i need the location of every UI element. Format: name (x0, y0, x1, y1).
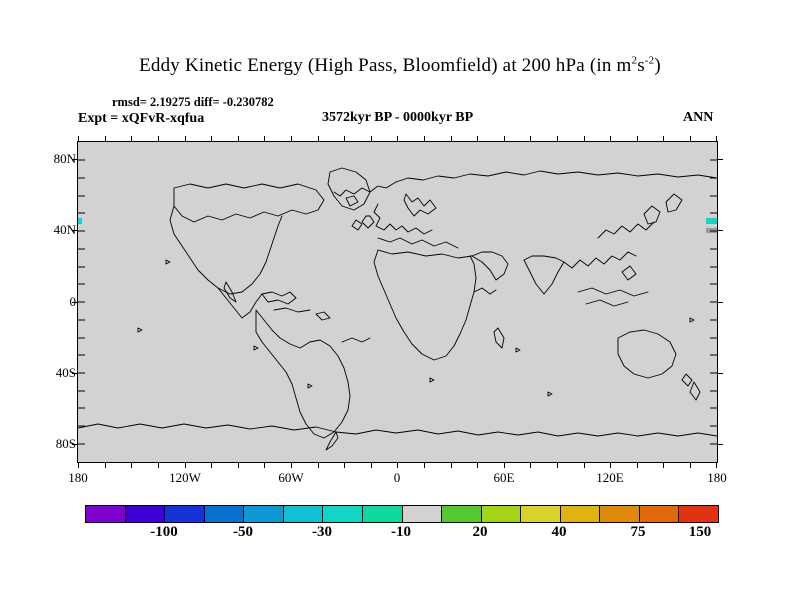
lon-tick-150e-top (663, 136, 664, 142)
lon-tick-105e (584, 462, 585, 468)
lon-tick-15w (371, 462, 372, 468)
colorbar-label-40: 40 (552, 524, 567, 541)
lon-tick-105w-top (211, 136, 212, 142)
colorbar-cell-11 (521, 506, 561, 522)
lon-tick-150e (663, 462, 664, 468)
lon-tick-135e-top (637, 136, 638, 142)
colorbar-cell-2 (165, 506, 205, 522)
chart-title-end: ) (654, 55, 661, 76)
chart-title-superscript-2: -2 (645, 55, 655, 67)
lon-tick-180e-top (716, 136, 717, 142)
lat-label-0: 0 (70, 294, 77, 310)
lon-tick-45e-top (477, 136, 478, 142)
lon-tick-75e (530, 462, 531, 468)
colorbar-cell-10 (482, 506, 522, 522)
chart-title: Eddy Kinetic Energy (High Pass, Bloomfie… (0, 55, 800, 77)
experiment-label: Expt = xQFvR-xqfua (78, 111, 204, 127)
colorbar[interactable] (85, 505, 719, 523)
colorbar-cell-14 (640, 506, 680, 522)
colorbar-cell-4 (244, 506, 284, 522)
lon-tick-0 (397, 462, 398, 468)
colorbar-label-150: 150 (689, 524, 712, 541)
lon-tick-0-top (397, 136, 398, 142)
period-label: 3572kyr BP - 0000kyr BP (322, 110, 473, 126)
lon-tick-60w (291, 462, 292, 468)
colorbar-label-75: 75 (631, 524, 646, 541)
season-label: ANN (683, 110, 713, 126)
lat-tick-80s-right (717, 444, 723, 445)
lon-tick-75w-top (264, 136, 265, 142)
lat-label-40n: 40N (54, 222, 76, 238)
lon-tick-135w-top (158, 136, 159, 142)
colorbar-cell-12 (561, 506, 601, 522)
colorbar-cell-0 (86, 506, 126, 522)
lon-tick-105e-top (584, 136, 585, 142)
lon-tick-165e-top (690, 136, 691, 142)
lon-tick-165w (105, 462, 106, 468)
lon-tick-120e (610, 462, 611, 468)
lon-label-120e: 120E (596, 470, 623, 486)
lon-tick-120w (185, 462, 186, 468)
lon-tick-165e (690, 462, 691, 468)
colorbar-label-neg100: -100 (150, 524, 178, 541)
lon-tick-30e-top (451, 136, 452, 142)
lat-label-80n: 80N (54, 151, 76, 167)
lat-tick-0-right (717, 302, 723, 303)
chart-title-mid: s (637, 55, 645, 76)
colorbar-cell-3 (205, 506, 245, 522)
lon-tick-165w-top (105, 136, 106, 142)
lat-tick-40n-right (717, 230, 723, 231)
lon-tick-90e-top (557, 136, 558, 142)
lon-tick-90w-top (238, 136, 239, 142)
lon-tick-60e-top (504, 136, 505, 142)
lat-tick-40s-right (717, 373, 723, 374)
lon-tick-135e (637, 462, 638, 468)
colorbar-cell-6 (323, 506, 363, 522)
lon-tick-15w-top (371, 136, 372, 142)
colorbar-cell-5 (284, 506, 324, 522)
lon-tick-120e-top (610, 136, 611, 142)
lon-tick-150w (131, 462, 132, 468)
lon-tick-15e (424, 462, 425, 468)
anomaly-cell-east (706, 218, 717, 224)
lon-tick-180w (78, 462, 79, 468)
lon-tick-120w-top (185, 136, 186, 142)
colorbar-label-neg50: -50 (233, 524, 253, 541)
colorbar-label-neg30: -30 (312, 524, 332, 541)
lon-tick-30w (344, 462, 345, 468)
statistics-line: rmsd= 2.19275 diff= -0.230782 (112, 95, 274, 110)
lon-tick-90e (557, 462, 558, 468)
lon-tick-30w-top (344, 136, 345, 142)
lon-tick-45w (318, 462, 319, 468)
chart-title-main: Eddy Kinetic Energy (High Pass, Bloomfie… (139, 55, 631, 76)
colorbar-cell-8 (403, 506, 443, 522)
lon-tick-150w-top (131, 136, 132, 142)
map-plot-area (77, 141, 718, 463)
lon-label-120w: 120W (169, 470, 201, 486)
figure-canvas: Eddy Kinetic Energy (High Pass, Bloomfie… (0, 0, 800, 600)
lon-label-60w: 60W (278, 470, 303, 486)
lat-label-40s: 40S (56, 365, 76, 381)
lon-tick-180w-top (78, 136, 79, 142)
lon-tick-180e (716, 462, 717, 468)
lon-tick-75e-top (530, 136, 531, 142)
colorbar-label-20: 20 (473, 524, 488, 541)
lat-label-80s: 80S (56, 436, 76, 452)
colorbar-cell-1 (126, 506, 166, 522)
colorbar-cell-13 (600, 506, 640, 522)
lon-tick-105w (211, 462, 212, 468)
colorbar-cell-15 (679, 506, 718, 522)
colorbar-cell-9 (442, 506, 482, 522)
colorbar-cell-7 (363, 506, 403, 522)
lon-label-0: 0 (394, 470, 401, 486)
lon-tick-60w-top (291, 136, 292, 142)
lat-tick-80n-right (717, 159, 723, 160)
lon-tick-135w (158, 462, 159, 468)
lon-label-180e: 180 (707, 470, 727, 486)
lon-tick-45e (477, 462, 478, 468)
anomaly-cell-west (78, 218, 82, 224)
lon-tick-75w (264, 462, 265, 468)
lon-tick-90w (238, 462, 239, 468)
world-coastline-map (78, 142, 717, 462)
lon-tick-60e (504, 462, 505, 468)
lon-tick-15e-top (424, 136, 425, 142)
lon-tick-45w-top (318, 136, 319, 142)
lon-label-60e: 60E (494, 470, 515, 486)
lon-tick-30e (451, 462, 452, 468)
lon-label-180w: 180 (68, 470, 88, 486)
colorbar-label-neg10: -10 (391, 524, 411, 541)
